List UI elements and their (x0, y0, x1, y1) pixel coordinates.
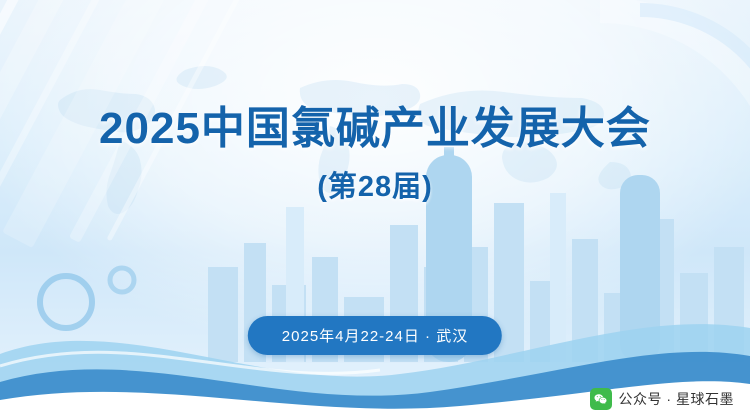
wechat-icon (590, 388, 612, 410)
page-subtitle: (第28届) (0, 163, 750, 205)
page-title: 2025中国氯碱产业发展大会 (0, 104, 750, 153)
watermark: 公众号 · 星球石墨 (590, 388, 734, 410)
title-block: 2025中国氯碱产业发展大会 (第28届) (0, 104, 750, 205)
conference-poster: 2025中国氯碱产业发展大会 (第28届) 2025年4月22-24日 · 武汉… (0, 0, 750, 420)
watermark-text: 公众号 · 星球石墨 (619, 389, 734, 409)
